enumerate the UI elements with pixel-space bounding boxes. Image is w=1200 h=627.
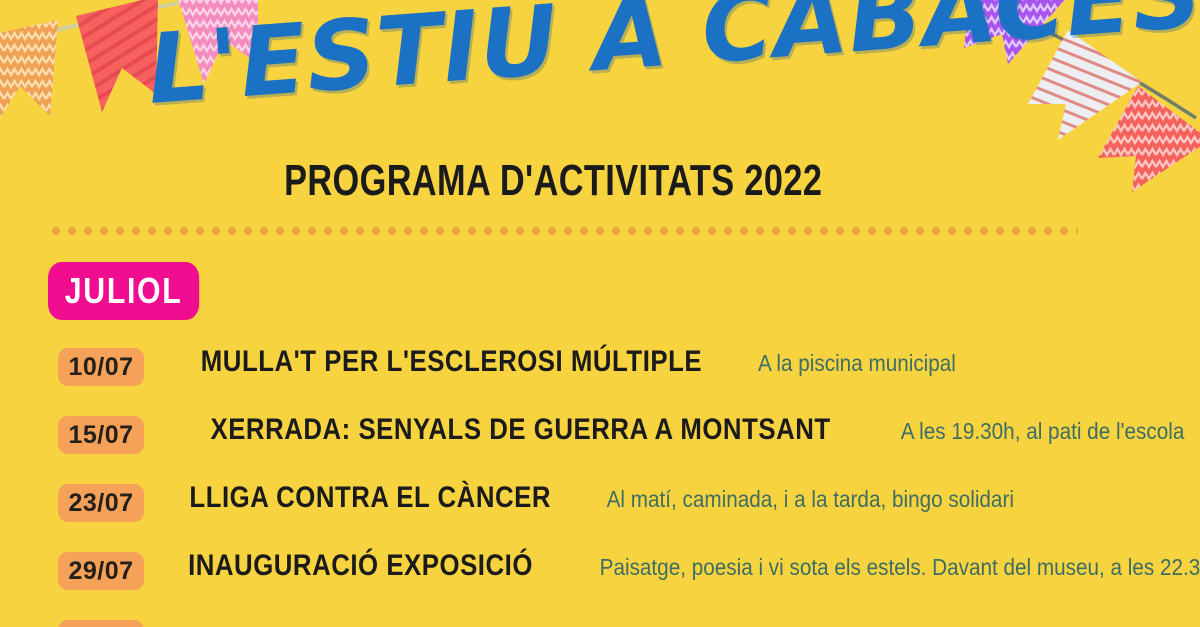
event-row: 29/07 INAUGURACIÓ EXPOSICIÓ Paisatge, po… [58,548,1188,616]
event-description: A les 19.30h, al pati de l'escola [901,418,1185,445]
event-title: INAUGURACIÓ EXPOSICIÓ [188,549,533,583]
event-row: 23/07 LLIGA CONTRA EL CÀNCER Al matí, ca… [58,480,1188,548]
event-description: Paisatge, poesia i vi sota els estels. D… [600,554,1200,581]
month-badge-juliol: JULIOL [48,262,199,320]
events-list: 10/07 MULLA'T PER L'ESCLEROSI MÚLTIPLE A… [58,344,1188,627]
event-title: LLIGA CONTRA EL CÀNCER [189,481,551,515]
event-date-badge: 10/07 [58,348,144,386]
page-subtitle: PROGRAMA D'ACTIVITATS 2022 [132,156,1068,206]
event-title: MULLA'T PER L'ESCLEROSI MÚLTIPLE [201,345,702,379]
event-row: 15/07 XERRADA: SENYALS DE GUERRA A MONTS… [58,412,1188,480]
event-date-badge: 15/07 [58,416,144,454]
event-title: XERRADA: SENYALS DE GUERRA A MONTSANT [210,413,830,447]
event-row-partial [58,616,1188,627]
poster-canvas: L'ESTIU A CABACÉS PROGRAMA D'ACTIVITATS … [0,0,1200,627]
event-row: 10/07 MULLA'T PER L'ESCLEROSI MÚLTIPLE A… [58,344,1188,412]
title-block: L'ESTIU A CABACÉS PROGRAMA D'ACTIVITATS … [0,8,1200,168]
event-date-badge: 29/07 [58,552,144,590]
event-date-badge [58,620,144,627]
page-title: L'ESTIU A CABACÉS [144,0,1050,126]
event-description: A la piscina municipal [758,350,956,377]
event-date-badge: 23/07 [58,484,144,522]
dotted-divider [48,226,1078,236]
month-badge-label: JULIOL [65,270,183,312]
event-description: Al matí, caminada, i a la tarda, bingo s… [607,486,1014,513]
